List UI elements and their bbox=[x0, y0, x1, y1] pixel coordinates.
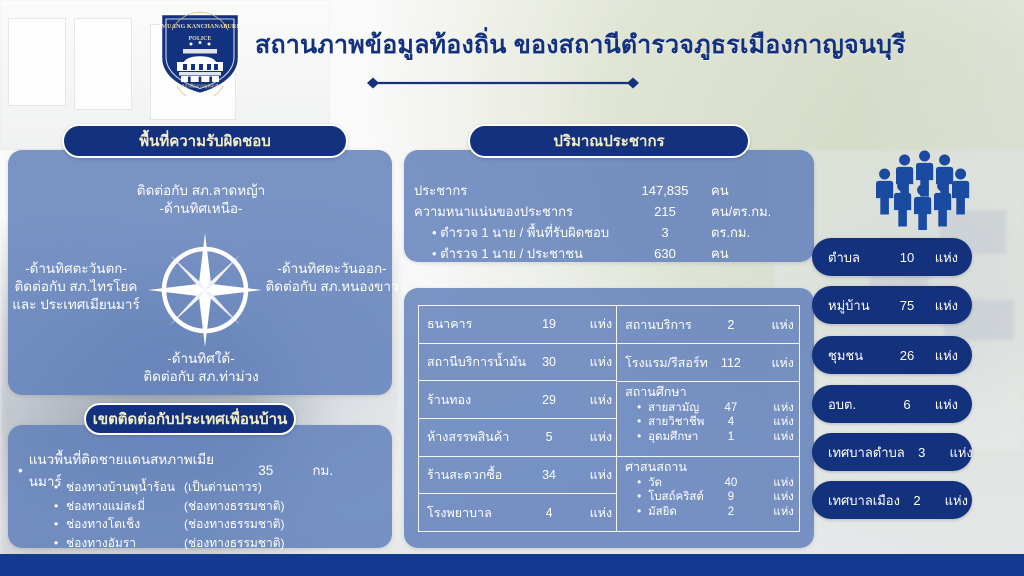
list-item: • สายสามัญ 47 แห่ง bbox=[625, 401, 794, 416]
table-row: ความหนาแน่นของประชากร 215 คน/ตร.กม. bbox=[414, 201, 810, 222]
direction-east-line1: -ด้านทิศตะวันออก- bbox=[262, 260, 402, 278]
border-zone-heading: เขตติดต่อกับประเทศเพื่อนบ้าน bbox=[84, 403, 296, 435]
direction-south-label: -ด้านทิศใต้- ติดต่อกับ สภ.ท่าม่วง bbox=[96, 350, 306, 386]
facility-label: โบสถ์คริสต์ bbox=[648, 490, 708, 505]
facility-unit: แห่ง bbox=[572, 390, 612, 410]
facility-value: 5 bbox=[526, 430, 572, 444]
facilities-right-column: สถานบริการ 2 แห่ง โรงแรม/รีสอร์ท 112 แห่… bbox=[617, 306, 800, 531]
facility-value: 30 bbox=[526, 355, 572, 369]
stat-pill-sao[interactable]: อบต. 6 แห่ง bbox=[812, 385, 972, 423]
bullet-icon: • bbox=[637, 430, 648, 445]
table-row: โรงพยาบาล 4 แห่ง bbox=[419, 494, 616, 531]
facility-value: 1 bbox=[708, 430, 754, 445]
table-row: • ตำรวจ 1 นาย / ประชาชน 630 คน bbox=[414, 243, 810, 264]
stat-label: หมู่บ้าน bbox=[828, 295, 890, 316]
population-value: 215 bbox=[619, 201, 711, 222]
responsibility-heading: พื้นที่ความรับผิดชอบ bbox=[62, 124, 348, 158]
bullet-icon: • bbox=[637, 415, 648, 430]
responsibility-heading-label: พื้นที่ความรับผิดชอบ bbox=[139, 129, 271, 153]
facility-unit: แห่ง bbox=[754, 401, 794, 416]
page-header: MUANG KANCHANABURI POLICE สภ.เมืองกาญจนบ… bbox=[0, 0, 1024, 100]
facility-unit: แห่ง bbox=[572, 427, 612, 447]
population-unit: คน/ตร.กม. bbox=[711, 201, 810, 222]
population-heading: ปริมาณประชากร bbox=[468, 124, 750, 158]
facility-value: 47 bbox=[708, 401, 754, 416]
stat-pill-subdistrict[interactable]: ตำบล 10 แห่ง bbox=[812, 238, 972, 276]
facility-value: 40 bbox=[708, 476, 754, 491]
table-row: ร้านทอง 29 แห่ง bbox=[419, 381, 616, 419]
facility-label: วัด bbox=[648, 476, 708, 491]
facilities-left-column: ธนาคาร 19 แห่ง สถานีบริการน้ำมัน 30 แห่ง… bbox=[419, 306, 617, 531]
facility-unit: แห่ง bbox=[754, 353, 794, 373]
direction-north-line1: ติดต่อกับ สภ.ลาดหญ้า bbox=[96, 182, 306, 200]
facility-unit: แห่ง bbox=[754, 490, 794, 505]
list-item: • อุดมศึกษา 1 แห่ง bbox=[625, 430, 794, 445]
direction-east-line2: ติดต่อกับ สภ.หนองขาว bbox=[262, 278, 402, 296]
direction-west-line3: และ ประเทศเมียนมาร์ bbox=[6, 296, 146, 314]
population-value: 147,835 bbox=[619, 180, 711, 201]
stat-value: 2 bbox=[900, 493, 934, 508]
population-rows: ประชากร 147,835 คน ความหนาแน่นของประชากร… bbox=[414, 180, 810, 264]
border-zone-heading-label: เขตติดต่อกับประเทศเพื่อนบ้าน bbox=[93, 407, 288, 431]
facility-label: มัสยิด bbox=[648, 505, 708, 520]
population-unit: ตร.กม. bbox=[711, 222, 810, 243]
list-item: • วัด 40 แห่ง bbox=[625, 476, 794, 491]
facilities-table: ธนาคาร 19 แห่ง สถานีบริการน้ำมัน 30 แห่ง… bbox=[418, 305, 800, 532]
table-row: ห้างสรรพสินค้า 5 แห่ง bbox=[419, 419, 616, 457]
facility-unit: แห่ง bbox=[572, 503, 612, 523]
bullet-icon: • bbox=[18, 463, 23, 478]
bullet-icon: • bbox=[637, 476, 648, 491]
stat-pill-village[interactable]: หมู่บ้าน 75 แห่ง bbox=[812, 286, 972, 324]
bullet-icon: • bbox=[637, 505, 648, 520]
table-row: ประชากร 147,835 คน bbox=[414, 180, 810, 201]
list-item: • ช่องทางโตเช็ง (ช่องทางธรรมชาติ) bbox=[54, 515, 384, 534]
facility-label: ร้านสะดวกซื้อ bbox=[427, 465, 526, 485]
population-value: 3 bbox=[619, 222, 711, 243]
svg-text:MUANG KANCHANABURI: MUANG KANCHANABURI bbox=[161, 23, 239, 30]
crossing-type: (ช่องทางธรรมชาติ) bbox=[184, 497, 384, 516]
direction-south-line1: -ด้านทิศใต้- bbox=[96, 350, 306, 368]
direction-west-line2: ติดต่อกับ สภ.ไทรโยค bbox=[6, 278, 146, 296]
crossing-name: ช่องทางโตเช็ง bbox=[66, 515, 184, 534]
facility-value: 4 bbox=[526, 506, 572, 520]
table-row: โรงแรม/รีสอร์ท 112 แห่ง bbox=[617, 344, 800, 382]
facility-label: โรงแรม/รีสอร์ท bbox=[625, 353, 708, 373]
facility-unit: แห่ง bbox=[754, 430, 794, 445]
list-item: • ช่องทางอัมรา (ช่องทางธรรมชาติ) bbox=[54, 534, 384, 553]
table-row: ธนาคาร 19 แห่ง bbox=[419, 306, 616, 344]
crossing-name: ช่องทางบ้านพุน้ำร้อน bbox=[66, 478, 184, 497]
stat-label: ตำบล bbox=[828, 247, 890, 268]
stat-label: เทศบาลเมือง bbox=[828, 490, 900, 511]
facility-label: ห้างสรรพสินค้า bbox=[427, 427, 526, 447]
stat-unit: แห่ง bbox=[924, 394, 958, 415]
population-label: • ตำรวจ 1 นาย / พื้นที่รับผิดชอบ bbox=[414, 222, 619, 243]
direction-north-line2: -ด้านทิศเหนือ- bbox=[96, 200, 306, 218]
stat-unit: แห่ง bbox=[924, 295, 958, 316]
stat-value: 10 bbox=[890, 250, 924, 265]
facility-label: สายสามัญ bbox=[648, 401, 708, 416]
stat-unit: แห่ง bbox=[924, 345, 958, 366]
crossing-type: (ช่องทางธรรมชาติ) bbox=[184, 534, 384, 553]
facility-label: โรงพยาบาล bbox=[427, 503, 526, 523]
border-length-value: 35 bbox=[234, 463, 298, 478]
facility-value: 34 bbox=[526, 468, 572, 482]
stat-label: อบต. bbox=[828, 394, 890, 415]
direction-west-line1: -ด้านทิศตะวันตก- bbox=[6, 260, 146, 278]
bullet-icon: • bbox=[54, 515, 66, 534]
population-label: ความหนาแน่นของประชากร bbox=[414, 201, 619, 222]
facility-value: 2 bbox=[708, 318, 754, 332]
facility-value: 112 bbox=[708, 356, 754, 370]
direction-east-label: -ด้านทิศตะวันออก- ติดต่อกับ สภ.หนองขาว bbox=[262, 260, 402, 296]
table-row: สถานบริการ 2 แห่ง bbox=[617, 306, 800, 344]
compass-rose-icon bbox=[146, 231, 264, 349]
people-group-icon bbox=[848, 146, 984, 230]
facility-unit: แห่ง bbox=[754, 505, 794, 520]
table-row: • ตำรวจ 1 นาย / พื้นที่รับผิดชอบ 3 ตร.กม… bbox=[414, 222, 810, 243]
population-label: • ตำรวจ 1 นาย / ประชาชน bbox=[414, 243, 619, 264]
stat-unit: แห่ง bbox=[934, 490, 968, 511]
title-divider-rule bbox=[363, 76, 643, 88]
border-crossing-list: • ช่องทางบ้านพุน้ำร้อน (เป็นด่านถาวร) • … bbox=[54, 478, 384, 553]
list-item: • สายวิชาชีพ 4 แห่ง bbox=[625, 415, 794, 430]
bullet-icon: • bbox=[54, 534, 66, 553]
direction-south-line2: ติดต่อกับ สภ.ท่าม่วง bbox=[96, 368, 306, 386]
stat-value: 6 bbox=[890, 397, 924, 412]
direction-north-label: ติดต่อกับ สภ.ลาดหญ้า -ด้านทิศเหนือ- bbox=[96, 182, 306, 218]
facility-group-label: สถานศึกษา bbox=[625, 385, 794, 401]
list-item: • มัสยิด 2 แห่ง bbox=[625, 505, 794, 520]
stat-pill-community[interactable]: ชุมชน 26 แห่ง bbox=[812, 336, 972, 374]
facility-value: 19 bbox=[526, 317, 572, 331]
facility-unit: แห่ง bbox=[572, 465, 612, 485]
facility-unit: แห่ง bbox=[754, 315, 794, 335]
page-title: สถานภาพข้อมูลท้องถิ่น ของสถานีตำรวจภูธรเ… bbox=[255, 25, 906, 65]
crossing-name: ช่องทางแม่สะมี่ bbox=[66, 497, 184, 516]
facility-value: 29 bbox=[526, 393, 572, 407]
stat-unit: แห่ง bbox=[939, 442, 973, 463]
table-row-religion: ศาสนสถาน • วัด 40 แห่ง • โบสถ์คริสต์ 9 แ… bbox=[617, 457, 800, 531]
facility-unit: แห่ง bbox=[572, 314, 612, 334]
facility-value: 9 bbox=[708, 490, 754, 505]
crossing-name: ช่องทางอัมรา bbox=[66, 534, 184, 553]
population-unit: คน bbox=[711, 243, 810, 264]
crossing-type: (ช่องทางธรรมชาติ) bbox=[184, 515, 384, 534]
population-heading-label: ปริมาณประชากร bbox=[553, 129, 664, 153]
police-badge-logo: MUANG KANCHANABURI POLICE สภ.เมืองกาญจนบ… bbox=[157, 8, 243, 96]
facility-label: สายวิชาชีพ bbox=[648, 415, 708, 430]
stat-label: เทศบาลตำบล bbox=[828, 442, 905, 463]
facility-group-label: ศาสนสถาน bbox=[625, 460, 794, 476]
footer-bar bbox=[0, 554, 1024, 576]
bullet-icon: • bbox=[54, 478, 66, 497]
population-unit: คน bbox=[711, 180, 810, 201]
facility-label: ร้านทอง bbox=[427, 390, 526, 410]
facility-value: 2 bbox=[708, 505, 754, 520]
crossing-type: (เป็นด่านถาวร) bbox=[184, 478, 384, 497]
facility-unit: แห่ง bbox=[572, 352, 612, 372]
stat-label: ชุมชน bbox=[828, 345, 890, 366]
facility-unit: แห่ง bbox=[754, 476, 794, 491]
table-row: สถานีบริการน้ำมัน 30 แห่ง bbox=[419, 344, 616, 382]
stat-value: 26 bbox=[890, 348, 924, 363]
facility-label: ธนาคาร bbox=[427, 314, 526, 334]
table-row: ร้านสะดวกซื้อ 34 แห่ง bbox=[419, 457, 616, 495]
svg-text:สภ.เมืองกาญจนบุรี: สภ.เมืองกาญจนบุรี bbox=[181, 83, 219, 90]
stat-value: 3 bbox=[905, 445, 939, 460]
stat-value: 75 bbox=[890, 298, 924, 313]
list-item: • ช่องทางแม่สะมี่ (ช่องทางธรรมชาติ) bbox=[54, 497, 384, 516]
list-item: • โบสถ์คริสต์ 9 แห่ง bbox=[625, 490, 794, 505]
stat-pill-town-municipality[interactable]: เทศบาลเมือง 2 แห่ง bbox=[812, 481, 972, 519]
facility-value: 4 bbox=[708, 415, 754, 430]
list-item: • ช่องทางบ้านพุน้ำร้อน (เป็นด่านถาวร) bbox=[54, 478, 384, 497]
bullet-icon: • bbox=[54, 497, 66, 516]
facility-label: อุดมศึกษา bbox=[648, 430, 708, 445]
facility-label: สถานบริการ bbox=[625, 315, 708, 335]
direction-west-label: -ด้านทิศตะวันตก- ติดต่อกับ สภ.ไทรโยค และ… bbox=[6, 260, 146, 315]
bullet-icon: • bbox=[637, 401, 648, 416]
facility-label: สถานีบริการน้ำมัน bbox=[427, 352, 526, 372]
facility-unit: แห่ง bbox=[754, 415, 794, 430]
population-value: 630 bbox=[619, 243, 711, 264]
bullet-icon: • bbox=[637, 490, 648, 505]
stat-pill-subdistrict-municipality[interactable]: เทศบาลตำบล 3 แห่ง bbox=[812, 433, 972, 471]
table-row-education: สถานศึกษา • สายสามัญ 47 แห่ง • สายวิชาชี… bbox=[617, 382, 800, 457]
stat-unit: แห่ง bbox=[924, 247, 958, 268]
population-label: ประชากร bbox=[414, 180, 619, 201]
